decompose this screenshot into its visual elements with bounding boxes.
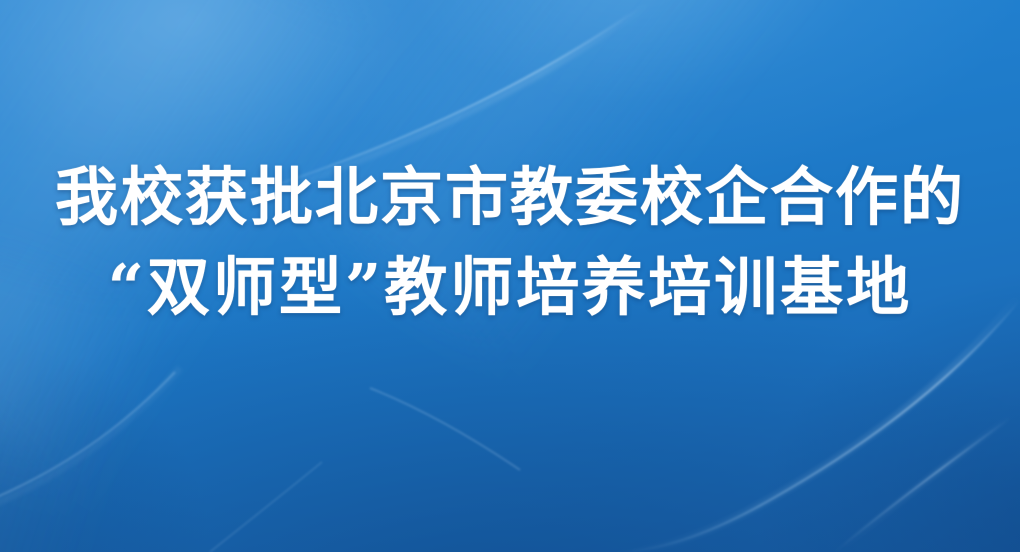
background-shade-corner-left [0, 0, 1020, 552]
banner-image: 我校获批北京市教委校企合作的 “双师型”教师培养培训基地 [0, 0, 1020, 552]
